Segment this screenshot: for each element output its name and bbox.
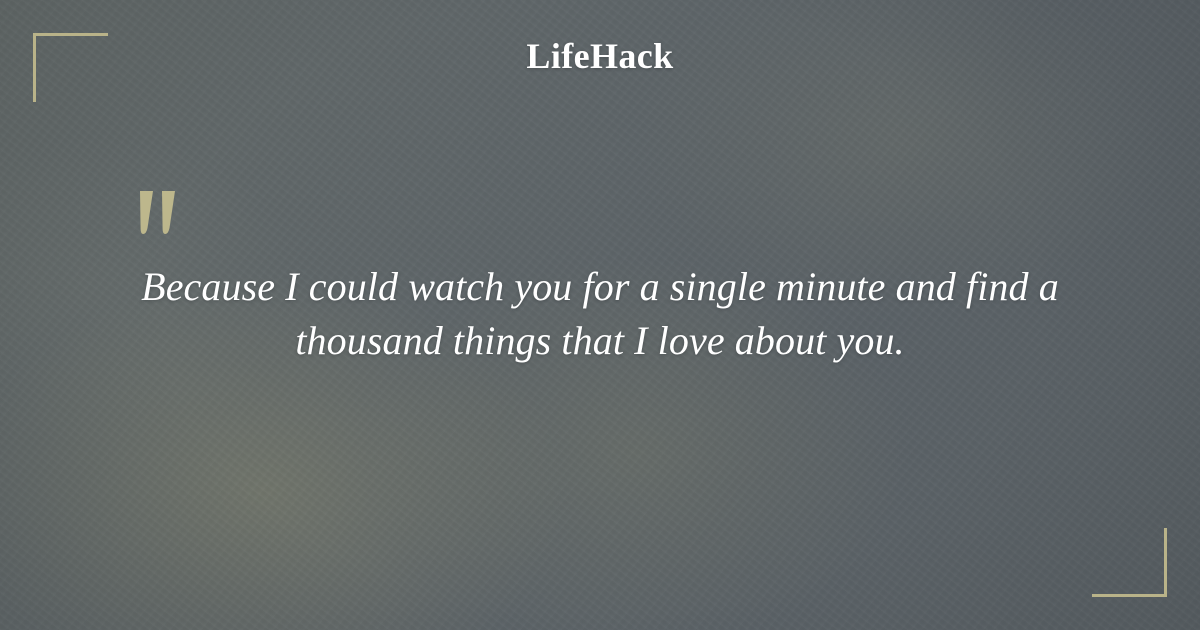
quotation-mark-icon xyxy=(134,190,190,238)
quote-text: Because I could watch you for a single m… xyxy=(130,260,1070,367)
quote-line-2: thousand things that I love about you. xyxy=(295,318,904,363)
quote-line-1: Because I could watch you for a single m… xyxy=(141,264,1059,309)
brand-logo-text: LifeHack xyxy=(526,36,673,76)
corner-bracket-bottom-right-icon xyxy=(1092,528,1167,597)
quote-block: Because I could watch you for a single m… xyxy=(130,190,1070,367)
quote-card: LifeHack Because I could watch you for a… xyxy=(0,0,1200,630)
brand-logo: LifeHack xyxy=(0,38,1200,74)
